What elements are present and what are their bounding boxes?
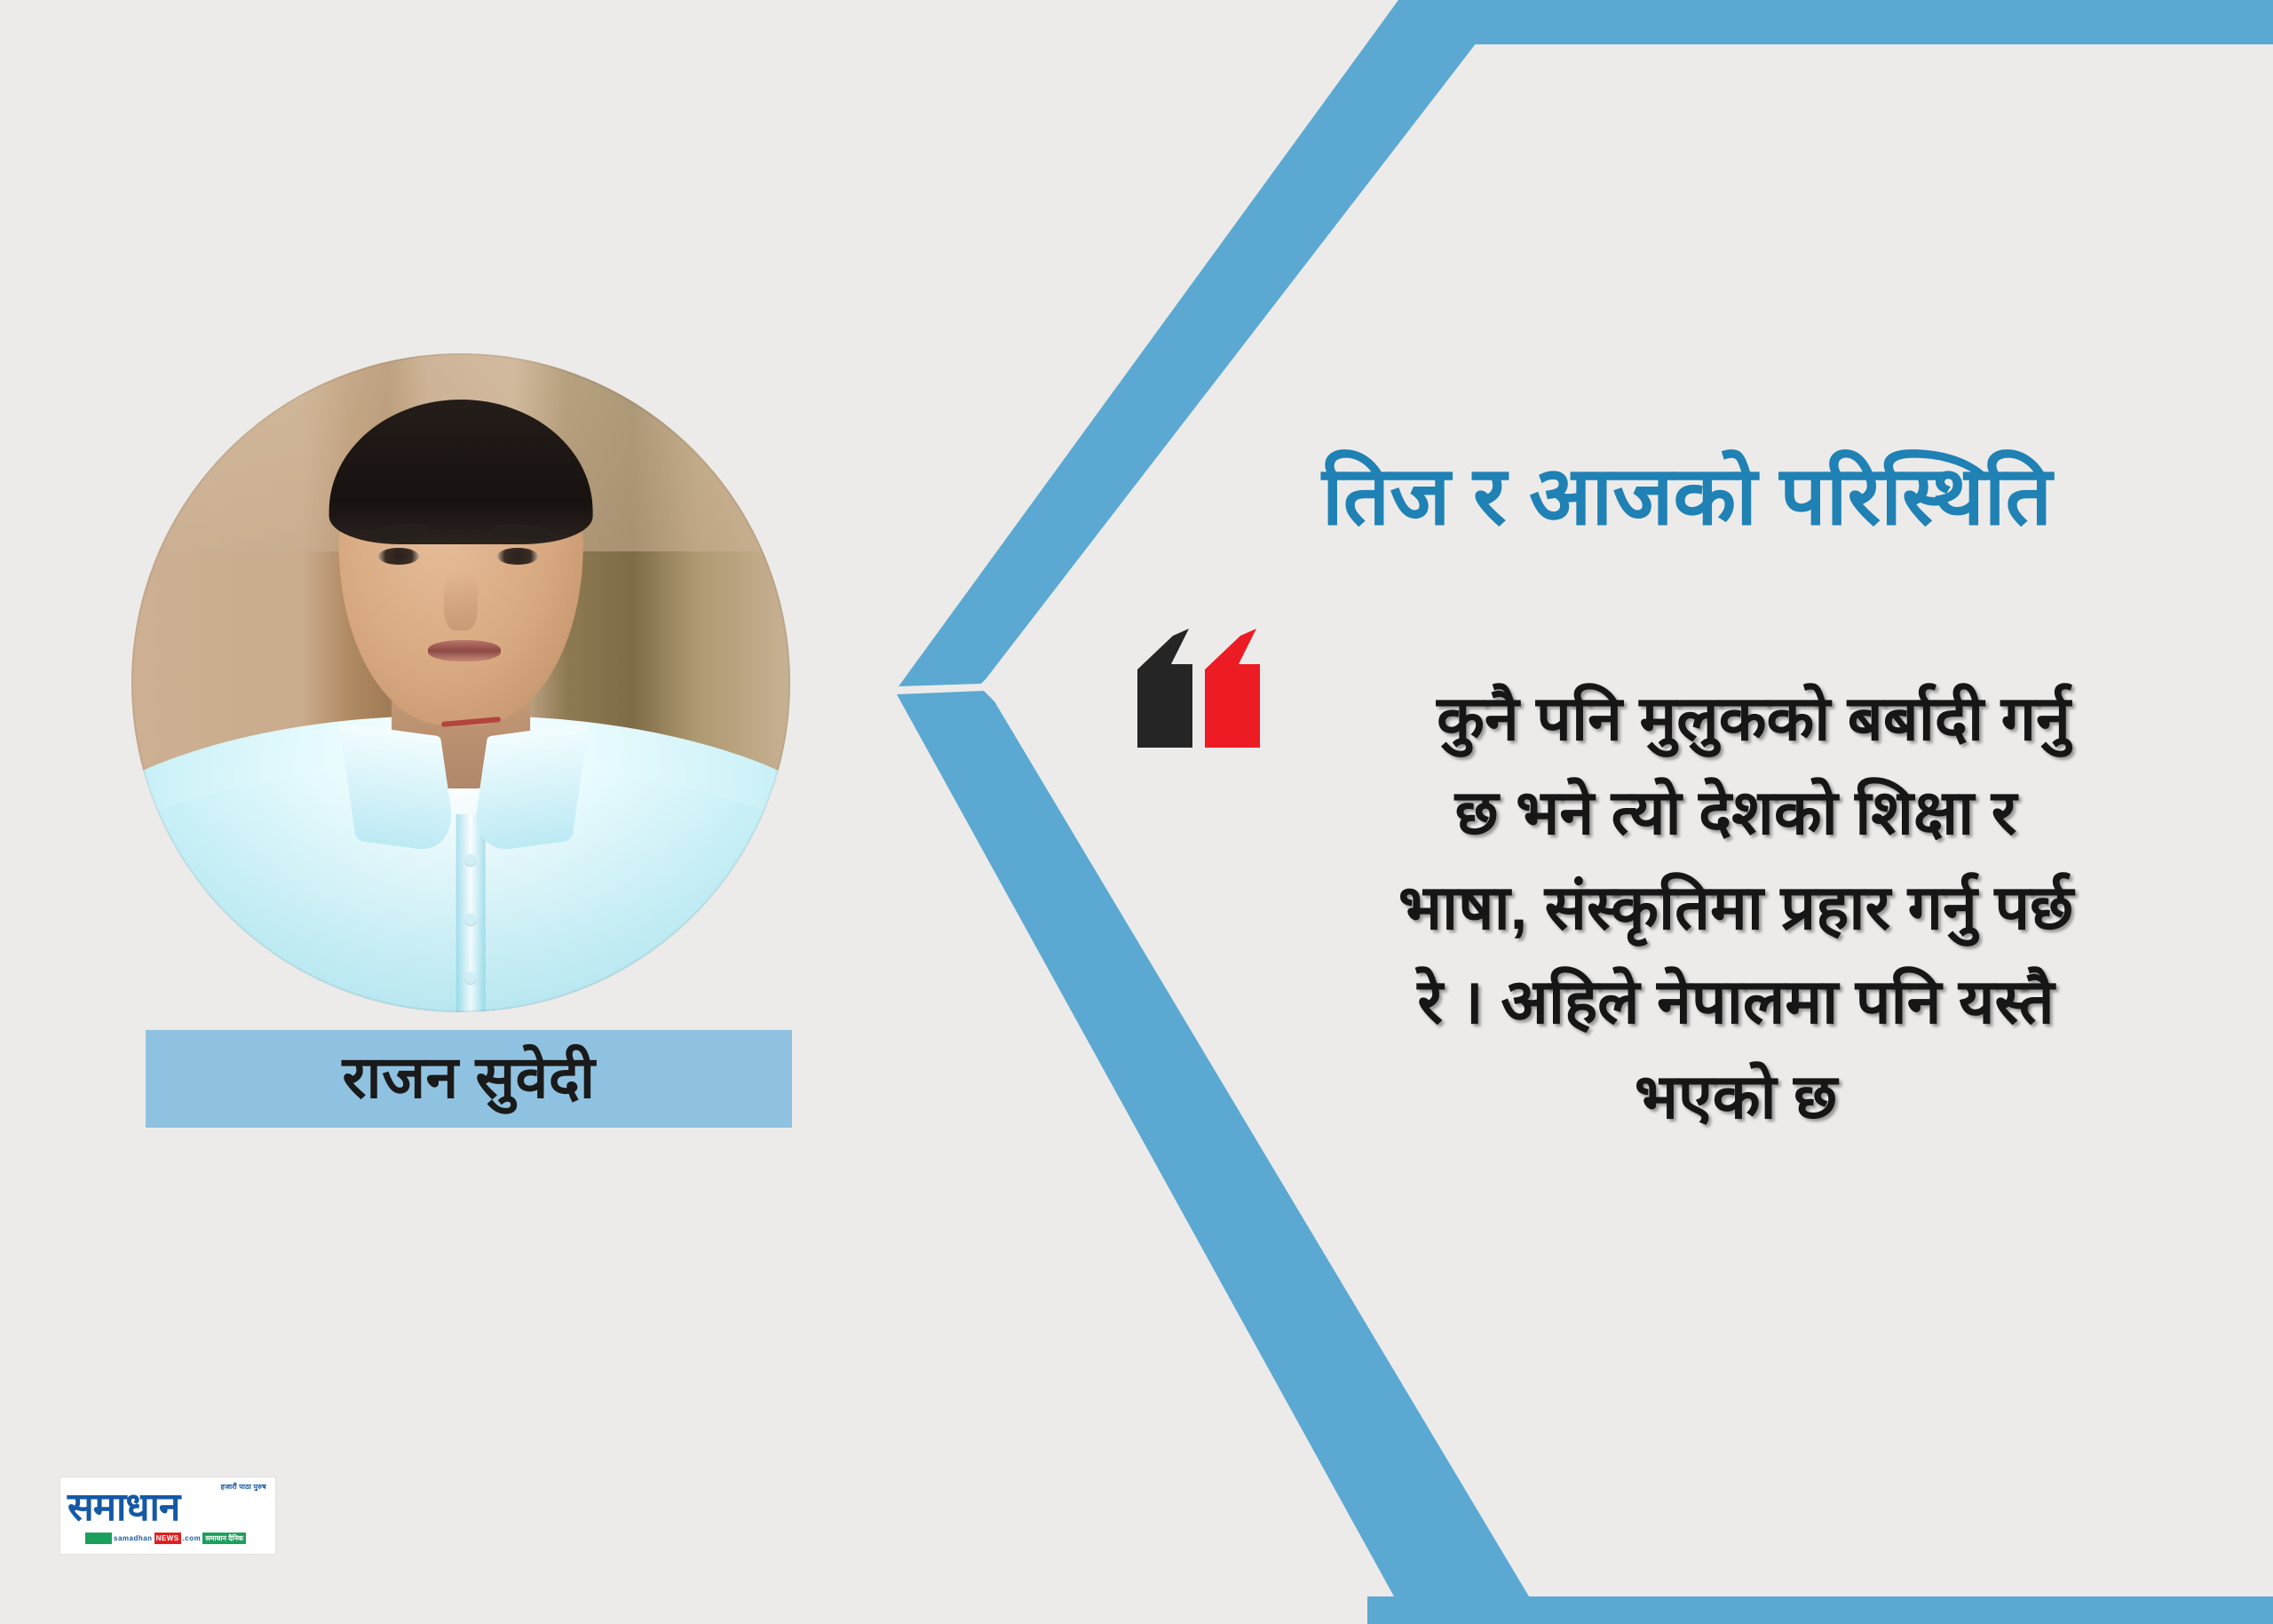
page-title: तिज र आजको परिस्थिति xyxy=(1136,451,2237,543)
quote-glyph-black xyxy=(1137,629,1192,748)
quote-line: छ भने त्यो देशको शिक्षा र xyxy=(1234,765,2237,860)
logo-wordmark: समाधान xyxy=(67,1488,179,1527)
photo-mouth xyxy=(428,640,501,661)
photo-shirt-button xyxy=(465,854,477,866)
photo-collar-right xyxy=(471,723,590,854)
photo-eye-right xyxy=(497,548,538,565)
photo-nose xyxy=(444,571,477,630)
quote-text: कुनै पनि मुलुकको बर्बादी गर्नु छ भने त्य… xyxy=(1234,671,2237,1144)
quote-line: रे । अहिले नेपालमा पनि यस्तै xyxy=(1234,955,2237,1049)
person-name: राजन सुवेदी xyxy=(343,1048,596,1110)
name-band: राजन सुवेदी xyxy=(146,1030,792,1128)
portrait-photo xyxy=(131,353,790,1012)
photo-collar-left xyxy=(339,723,458,854)
photo-shirt-button xyxy=(465,972,477,984)
logo-strip-green-left xyxy=(85,1533,112,1544)
chevron-upper-arm xyxy=(899,0,1509,686)
logo-strip-nepali: समाधान दैनिक xyxy=(202,1533,246,1544)
quote-line: भएको छ xyxy=(1234,1050,2237,1144)
logo-url-strip: samadhan NEWS .com समाधान दैनिक xyxy=(85,1533,246,1544)
quote-card: राजन सुवेदी तिज र आजको परिस्थिति कुनै पन… xyxy=(0,0,2273,1624)
quote-line: भाषा, संस्कृतिमा प्रहार गर्नु पर्छ xyxy=(1234,860,2237,955)
quote-line: कुनै पनि मुलुकको बर्बादी गर्नु xyxy=(1234,671,2237,765)
avatar xyxy=(131,353,790,1012)
blue-top-bar xyxy=(879,0,2273,44)
blue-bottom-bar xyxy=(1367,1596,2273,1624)
logo-news-tag: NEWS xyxy=(154,1533,181,1544)
logo-domain: .com xyxy=(181,1533,203,1544)
logo-tagline: हजारौं पाठा पुरुष xyxy=(221,1482,266,1492)
logo-latin-name: samadhan xyxy=(112,1533,154,1544)
photo-shirt-button xyxy=(465,914,477,925)
publisher-logo[interactable]: हजारौं पाठा पुरुष समाधान samadhan NEWS .… xyxy=(60,1477,275,1554)
